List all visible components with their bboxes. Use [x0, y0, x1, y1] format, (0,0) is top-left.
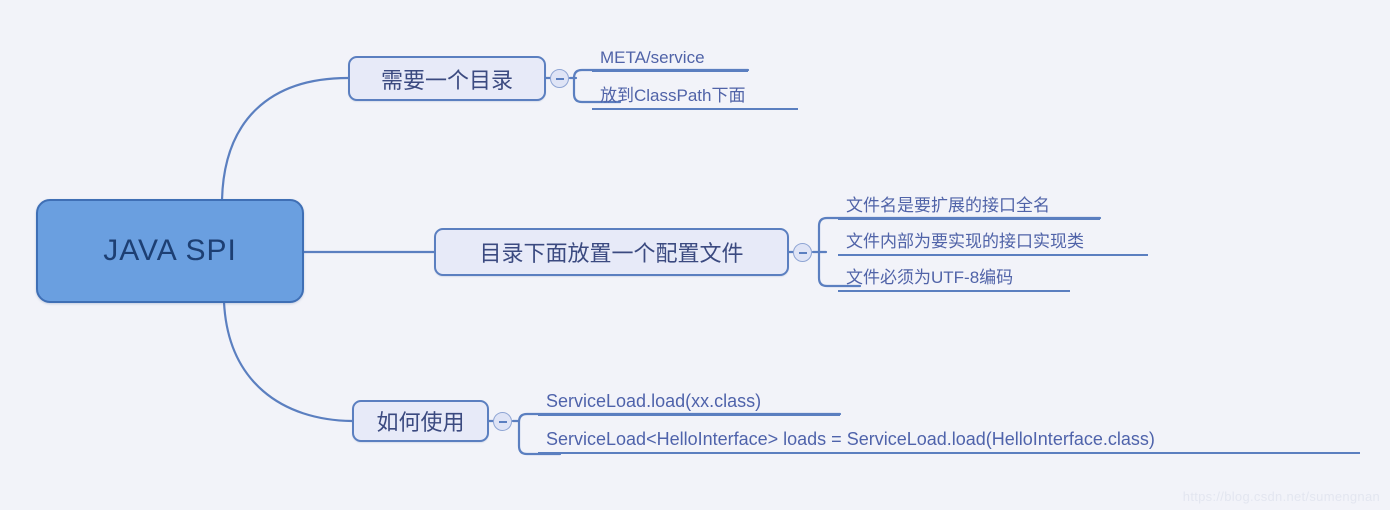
branch-node-1[interactable]: 需要一个目录: [348, 56, 546, 101]
wire-root-to-branch-3: [224, 302, 352, 421]
leaf-2-2[interactable]: 文件内部为要实现的接口实现类: [838, 232, 1148, 256]
leaf-3-2-label: ServiceLoad<HelloInterface> loads = Serv…: [546, 430, 1155, 450]
mindmap-canvas: JAVA SPI 需要一个目录 META/service 放到ClassPath…: [0, 0, 1390, 510]
minus-glyph: [799, 252, 807, 254]
leaf-2-2-label: 文件内部为要实现的接口实现类: [846, 233, 1084, 252]
leaf-1-2[interactable]: 放到ClassPath下面: [592, 84, 798, 110]
leaf-3-1-label: ServiceLoad.load(xx.class): [546, 392, 761, 412]
collapse-minus-icon-branch-3[interactable]: [493, 412, 512, 431]
branch-node-3-label: 如何使用: [376, 405, 464, 437]
leaf-1-2-label: 放到ClassPath下面: [600, 87, 745, 106]
leaf-2-1-label: 文件名是要扩展的接口全名: [846, 197, 1050, 216]
branch-node-1-label: 需要一个目录: [381, 63, 513, 95]
leaf-3-1[interactable]: ServiceLoad.load(xx.class): [538, 391, 840, 416]
root-node-label: JAVA SPI: [103, 234, 237, 268]
branch-node-2-label: 目录下面放置一个配置文件: [479, 236, 743, 268]
leaf-2-3-label: 文件必须为UTF-8编码: [846, 269, 1013, 288]
wire-root-to-branch-1: [222, 78, 348, 200]
leaf-1-1[interactable]: META/service: [592, 48, 748, 72]
root-node[interactable]: JAVA SPI: [36, 199, 304, 303]
leaf-1-1-label: META/service: [600, 49, 705, 68]
minus-glyph: [556, 78, 564, 80]
minus-glyph: [499, 421, 507, 423]
branch-node-3[interactable]: 如何使用: [352, 400, 489, 442]
watermark: https://blog.csdn.net/sumengnan: [1183, 489, 1380, 504]
leaf-2-3[interactable]: 文件必须为UTF-8编码: [838, 268, 1070, 292]
branch-node-2[interactable]: 目录下面放置一个配置文件: [434, 228, 789, 276]
leaf-3-2[interactable]: ServiceLoad<HelloInterface> loads = Serv…: [538, 429, 1360, 454]
collapse-minus-icon-branch-2[interactable]: [793, 243, 812, 262]
collapse-minus-icon-branch-1[interactable]: [550, 69, 569, 88]
leaf-2-1[interactable]: 文件名是要扩展的接口全名: [838, 196, 1100, 220]
